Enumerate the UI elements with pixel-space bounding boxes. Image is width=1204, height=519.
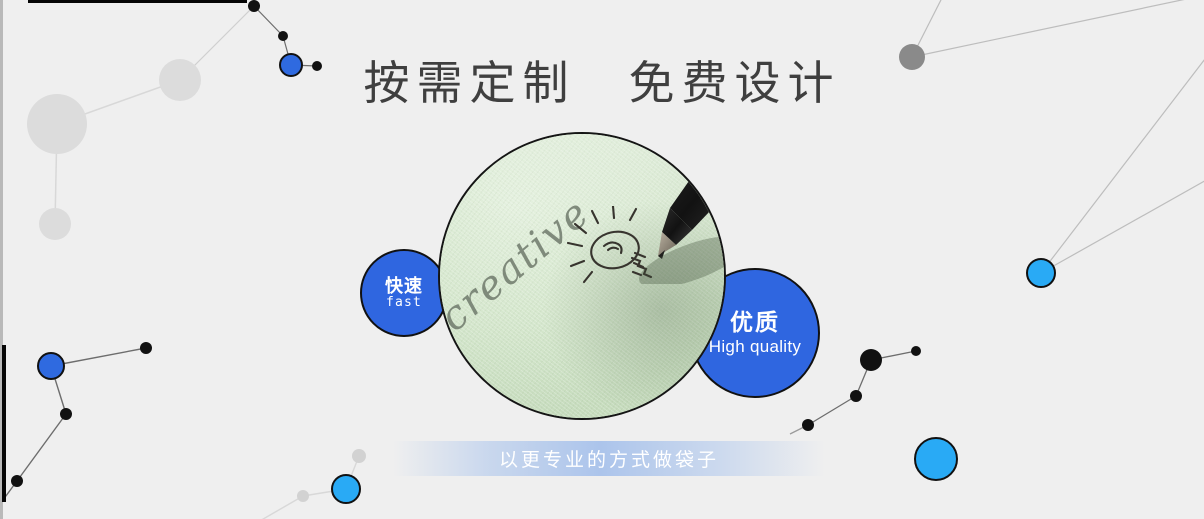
- creative-photo: creative: [440, 134, 724, 418]
- pen-nib-icon: [618, 144, 726, 284]
- feature-bubble-fast-cn: 快速: [385, 276, 423, 296]
- feature-bubble-fast[interactable]: 快速 fast: [360, 249, 448, 337]
- creative-photo-circle: creative: [438, 132, 726, 420]
- feature-bubble-fast-en: fast: [386, 296, 422, 311]
- feature-bubble-high-quality-cn: 优质: [730, 310, 780, 336]
- promo-banner: 按需定制 免费设计 优质 High quality 快速 fast creati…: [0, 0, 1204, 519]
- tagline-ribbon: 以更专业的方式做袋子: [393, 441, 825, 476]
- tagline-text: 以更专业的方式做袋子: [499, 445, 719, 472]
